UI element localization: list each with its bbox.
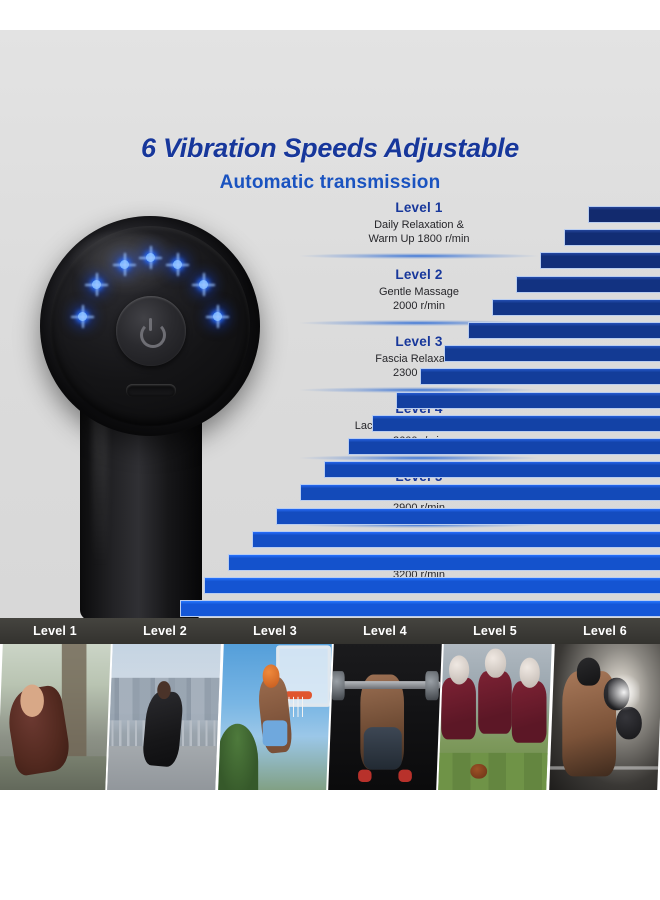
page-title: 6 Vibration Speeds Adjustable: [0, 133, 660, 164]
speed-bar: [348, 438, 660, 455]
speed-bar: [564, 229, 660, 246]
photo-level-1: [0, 644, 111, 790]
strip-label-5: Level 5: [440, 624, 550, 638]
speed-bar: [444, 345, 660, 362]
speed-bar: [180, 600, 660, 617]
speed-bar: [492, 299, 660, 316]
speed-bar: [228, 554, 660, 571]
infographic-page: 6 Vibration Speeds Adjustable Automatic …: [0, 0, 660, 900]
speed-bar: [516, 276, 660, 293]
level-strip: Level 1 Level 2 Level 3 Level 4 Level 5 …: [0, 618, 660, 644]
speed-bar: [276, 508, 660, 525]
speed-bar: [324, 461, 660, 478]
speed-bar: [300, 484, 660, 501]
photo-level-2: [108, 644, 222, 790]
speed-bar: [396, 392, 660, 409]
strip-label-4: Level 4: [330, 624, 440, 638]
photo-level-3: [218, 644, 332, 790]
photo-level-4: [328, 644, 442, 790]
speed-staircase-chart: [0, 200, 660, 618]
page-subtitle: Automatic transmission: [0, 172, 660, 194]
speed-bar: [420, 368, 660, 385]
strip-label-2: Level 2: [110, 624, 220, 638]
strip-label-3: Level 3: [220, 624, 330, 638]
speed-bar: [252, 531, 660, 548]
speed-bar: [588, 206, 660, 223]
sports-photo-grid: [0, 644, 660, 790]
strip-label-1: Level 1: [0, 624, 110, 638]
strip-label-6: Level 6: [550, 624, 660, 638]
photo-level-6: [549, 644, 660, 790]
photo-level-5: [439, 644, 553, 790]
main-panel: 6 Vibration Speeds Adjustable Automatic …: [0, 30, 660, 618]
speed-bar: [372, 415, 660, 432]
speed-bar: [468, 322, 660, 339]
speed-bar: [204, 577, 660, 594]
speed-bar: [540, 252, 660, 269]
